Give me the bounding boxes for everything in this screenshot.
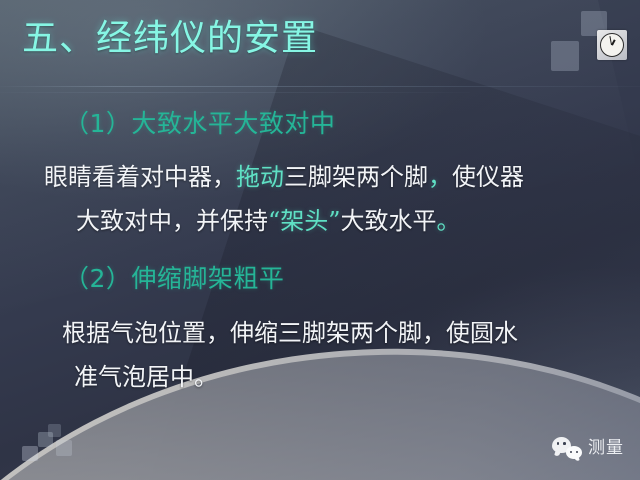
text-run-1: 拖动 <box>236 163 284 191</box>
text-run-4: 使仪器 <box>452 163 524 191</box>
watermark: 测量 <box>552 437 624 459</box>
wechat-bubble-small <box>566 446 582 459</box>
text-run-3: ， <box>428 163 452 191</box>
slide-content: （1）大致水平大致对中 眼睛看着对中器，拖动三脚架两个脚，使仪器 大致对中，并保… <box>0 0 640 480</box>
section-heading-1: （1）大致水平大致对中 <box>64 107 335 141</box>
text-run-0: 准气泡居中。 <box>74 363 218 391</box>
text-run-3: 。 <box>437 207 461 235</box>
text-run-0: 大致对中，并保持 <box>76 207 268 235</box>
wechat-bubble-large-eye-right <box>563 442 566 445</box>
wechat-icon <box>552 437 582 459</box>
watermark-label: 测量 <box>588 438 624 458</box>
section-1-line-2: 大致对中，并保持“架头”大致水平。 <box>76 205 461 237</box>
wechat-bubble-large-eye-left <box>557 442 560 445</box>
text-run-2: 大致水平 <box>341 207 437 235</box>
section-heading-2: （2）伸缩脚架粗平 <box>64 262 284 296</box>
section-1-line-1: 眼睛看着对中器，拖动三脚架两个脚，使仪器 <box>44 161 524 193</box>
wechat-bubble-small-eye-left <box>570 451 572 453</box>
section-2-line-2: 准气泡居中。 <box>74 361 218 393</box>
section-2-line-1: 根据气泡位置，伸缩三脚架两个脚，使圆水 <box>62 317 518 349</box>
text-run-2: 三脚架两个脚 <box>284 163 428 191</box>
text-run-0: 眼睛看着对中器， <box>44 163 236 191</box>
text-run-1: “架头” <box>268 207 341 235</box>
text-run-0: 根据气泡位置，伸缩三脚架两个脚，使圆水 <box>62 319 518 347</box>
presentation-slide: 五、经纬仪的安置 （1）大致水平大致对中 眼睛看着对中器，拖动三脚架两个脚，使仪… <box>0 0 640 480</box>
wechat-bubble-small-eye-right <box>576 451 578 453</box>
